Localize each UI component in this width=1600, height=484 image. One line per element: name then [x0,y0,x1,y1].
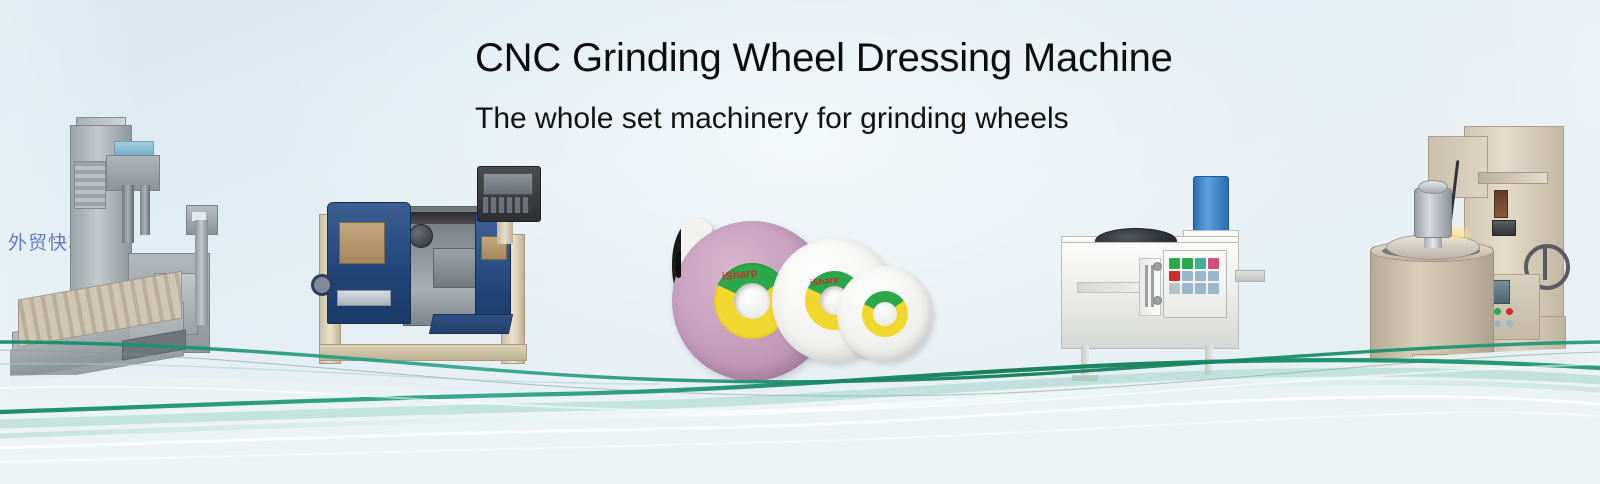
product-image-cnc-lathe [305,178,555,368]
banner-title: CNC Grinding Wheel Dressing Machine [475,38,1173,78]
press-motor-cap [1418,180,1448,194]
washer-knob-lower [1153,296,1162,305]
lathe-nameplate [337,290,391,306]
lathe-cnc-keypad [483,197,531,213]
press-button-aux2[interactable] [1494,320,1501,327]
grinder-pendant-post [195,220,208,325]
washer-button[interactable] [1169,258,1180,269]
washer-leg-left [1081,345,1089,379]
washer-button[interactable] [1169,283,1180,294]
washer-button[interactable] [1182,258,1193,269]
press-motor [1414,188,1452,238]
washer-foot-left [1072,375,1098,381]
grinder-ram-secondary [140,185,150,235]
washer-foot-right [1196,375,1222,381]
press-button-run[interactable] [1494,308,1501,315]
washer-side-arm [1235,270,1265,282]
lathe-handwheel [311,274,333,296]
press-access-hatch [1412,354,1448,368]
grinder-ram [122,185,134,243]
washer-button[interactable] [1208,283,1219,294]
product-image-wheel-forming-press [1368,126,1588,388]
washer-button-grid [1169,258,1219,294]
washer-button[interactable] [1195,271,1206,282]
wheel-bore [676,252,681,278]
press-indicator-gauge [1494,190,1508,218]
lathe-chip-tray [429,314,513,334]
product-image-wheel-washing-machine [1055,170,1270,385]
washer-button[interactable] [1208,258,1219,269]
washer-button[interactable] [1195,258,1206,269]
banner-root: 外贸快车 CNC Grinding Wheel Dressing Machine… [0,0,1600,484]
lathe-base-rail [319,344,527,361]
press-meter [1492,220,1516,236]
washer-button[interactable] [1182,271,1193,282]
washer-button[interactable] [1169,271,1180,282]
lathe-chuck [409,224,433,248]
washer-nameplate [1077,282,1141,293]
grinding-wheel-small-white [837,266,933,362]
lathe-headstock-window [339,222,385,264]
product-image-grinding-wheels: iSharp iSharp [672,218,937,378]
washer-button[interactable] [1182,283,1193,294]
washer-leg-right [1205,345,1213,379]
washer-button[interactable] [1195,283,1206,294]
lathe-cnc-screen [483,173,533,195]
wheel-bore [734,283,770,319]
product-image-surface-grinder [10,125,225,365]
washer-button[interactable] [1208,271,1219,282]
washer-knob-upper [1153,262,1162,271]
press-button-stop[interactable] [1506,308,1513,315]
grinder-vent-grille [74,161,106,209]
wheel-bore [873,302,897,326]
press-button-aux3[interactable] [1506,320,1513,327]
banner-subtitle: The whole set machinery for grinding whe… [475,104,1069,134]
press-nameplate [1478,172,1548,184]
